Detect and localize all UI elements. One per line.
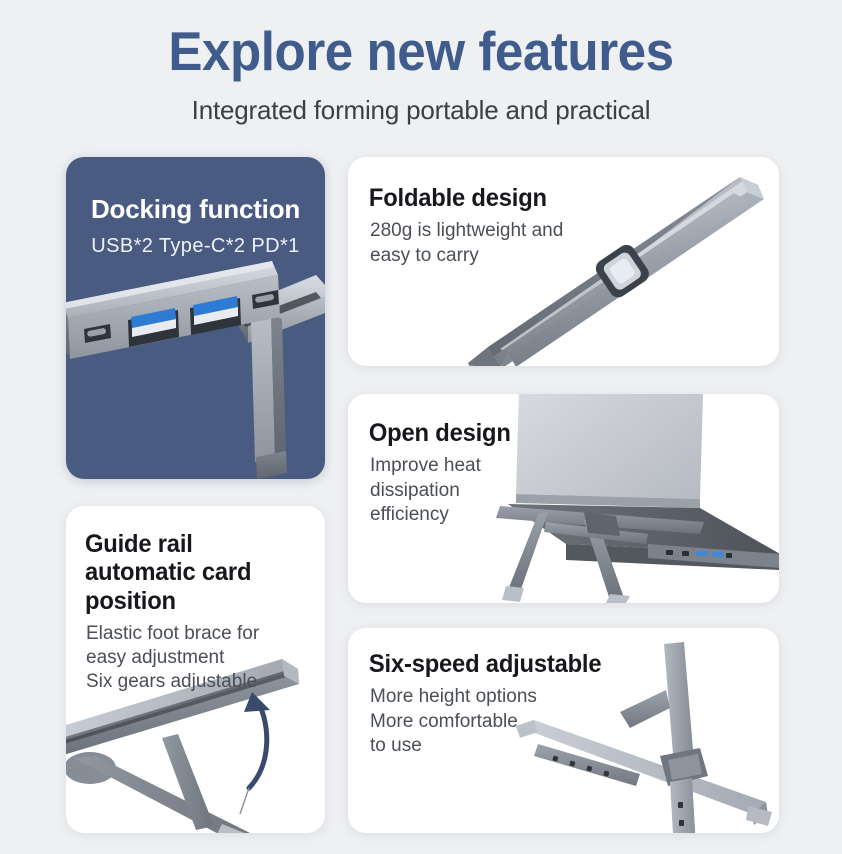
card-title-foldable: Foldable design — [348, 157, 757, 212]
card-title-open: Open design — [348, 394, 757, 447]
feature-card-foldable-design[interactable]: Foldable design 280g is lightweight and … — [348, 157, 779, 366]
feature-card-docking-function[interactable]: Docking function USB*2 Type-C*2 PD*1 — [66, 157, 325, 479]
card-title-guide-rail: Guide rail automatic card position — [66, 506, 304, 615]
card-body-line: More height options — [370, 685, 590, 709]
card-title-line: Guide rail automatic — [85, 530, 195, 586]
feature-card-six-speed-adjustable[interactable]: Six-speed adjustable More height options… — [348, 628, 779, 833]
card-body-line: Improve heat — [370, 454, 530, 478]
card-body-foldable: 280g is lightweight and easy to carry — [348, 212, 620, 268]
card-body-line: dissipation — [370, 479, 530, 503]
card-body-guide-rail: Elastic foot brace for easy adjustment S… — [66, 615, 311, 695]
card-body-line: More comfortable — [370, 710, 590, 734]
page-subtitle: Integrated forming portable and practica… — [0, 83, 842, 126]
card-body-six-speed: More height options More comfortable to … — [348, 678, 590, 758]
card-body-line: Six gears adjustable — [86, 670, 311, 694]
card-body-line: easy adjustment — [86, 646, 311, 670]
page-title: Explore new features — [29, 0, 812, 83]
feature-card-open-design[interactable]: Open design Improve heat dissipation eff… — [348, 394, 779, 603]
card-body-line: 280g is lightweight and — [370, 219, 620, 243]
card-body-line: to use — [370, 734, 590, 758]
page-header: Explore new features Integrated forming … — [0, 0, 842, 126]
card-body-line: easy to carry — [370, 244, 620, 268]
card-body-line: Elastic foot brace for — [86, 622, 311, 646]
feature-card-guide-rail[interactable]: Guide rail automatic card position Elast… — [66, 506, 325, 833]
card-body-docking: USB*2 Type-C*2 PD*1 — [66, 224, 325, 260]
card-title-docking: Docking function — [66, 157, 325, 224]
card-title-six-speed: Six-speed adjustable — [348, 628, 757, 678]
card-body-open: Improve heat dissipation efficiency — [348, 447, 530, 527]
card-body-line: efficiency — [370, 503, 530, 527]
